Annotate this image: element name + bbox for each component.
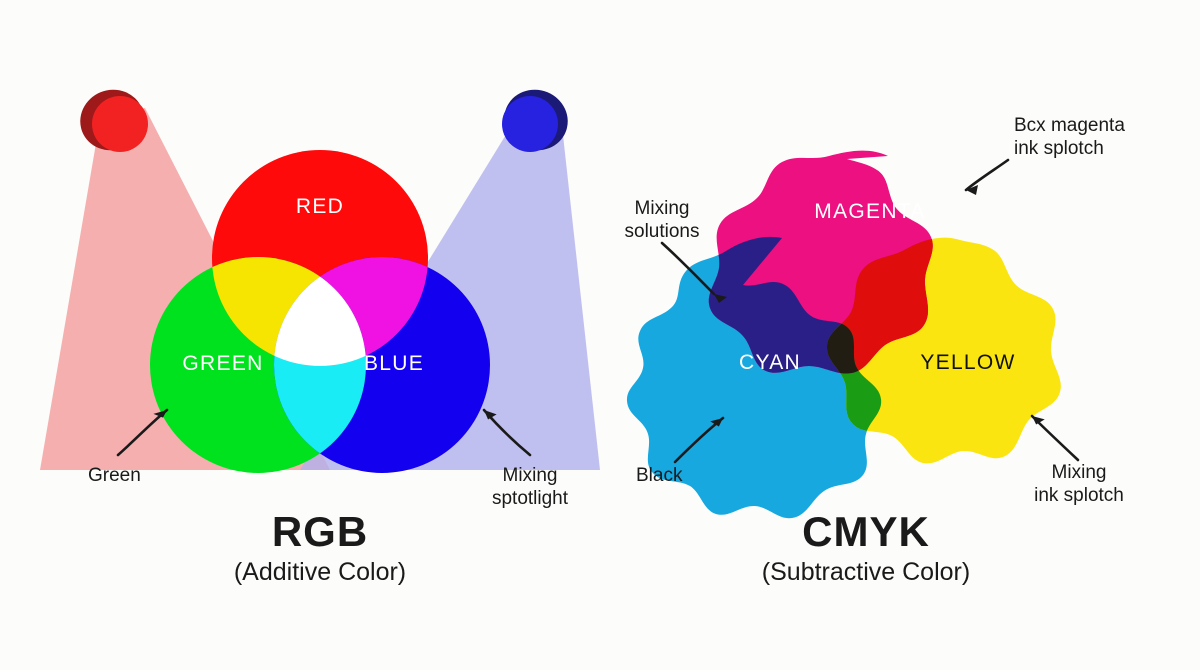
arrowhead bbox=[714, 294, 727, 303]
cmyk-label-yellow: YELLOW bbox=[908, 350, 1028, 376]
annotation-mixing-solutions: Mixing solutions bbox=[616, 197, 708, 243]
annotation-green: Green bbox=[88, 464, 141, 487]
annotation-box-magenta-ink-splotch: Bcx magenta ink splotch bbox=[1014, 114, 1150, 160]
cmyk-label-magenta: MAGENTA bbox=[790, 199, 950, 225]
annotation-black: Black bbox=[636, 464, 682, 487]
magenta-splotch-arrow bbox=[966, 160, 1008, 190]
arrowhead bbox=[483, 410, 497, 420]
cmyk-title: CMYK bbox=[716, 506, 1016, 557]
rgb-subtitle: (Additive Color) bbox=[150, 557, 490, 588]
green-callout-arrow bbox=[118, 410, 167, 455]
arrowhead bbox=[1031, 416, 1045, 425]
rgb-label-red: RED bbox=[262, 194, 378, 220]
annotation-mixing-ink-splotch: Mixing ink splotch bbox=[1024, 461, 1134, 507]
rgb-label-blue: BLUE bbox=[334, 351, 454, 377]
color-models-diagram: RED GREEN BLUE MAGENTA CYAN YELLOW Green… bbox=[0, 0, 1200, 670]
arrowhead bbox=[153, 410, 168, 419]
annotation-mixing-spotlight: Mixing sptotlight bbox=[484, 464, 576, 510]
rgb-title: RGB bbox=[170, 506, 470, 557]
cmyk-subtitle: (Subtractive Color) bbox=[696, 557, 1036, 588]
mixing-solutions-arrow bbox=[662, 243, 714, 294]
cmyk-label-cyan: CYAN bbox=[710, 350, 830, 376]
rgb-label-green: GREEN bbox=[163, 351, 283, 377]
